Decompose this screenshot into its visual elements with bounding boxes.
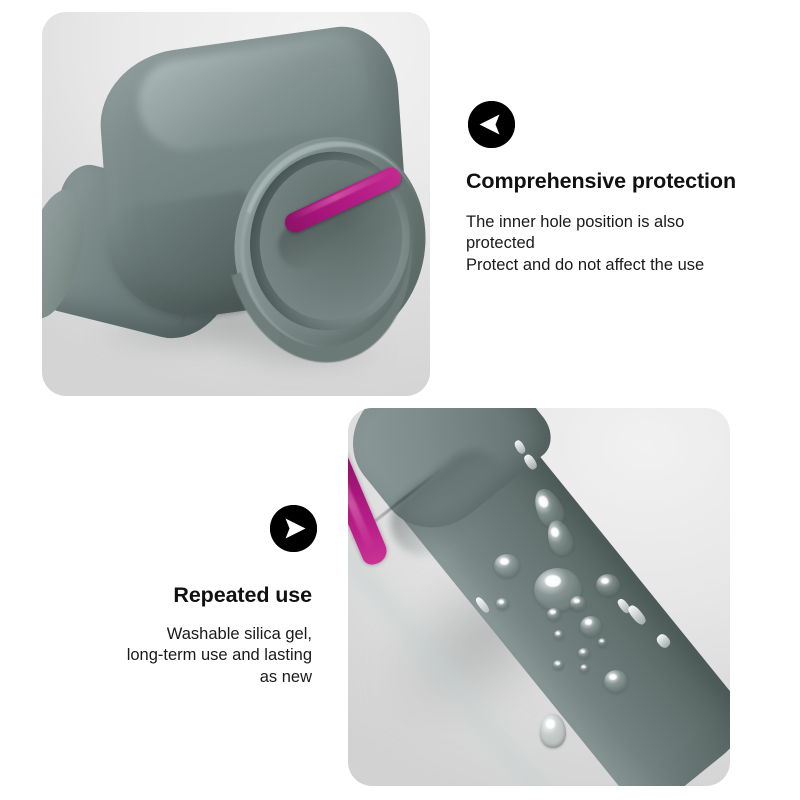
water-droplet xyxy=(547,608,561,621)
feature-description-line: Washable silica gel, xyxy=(62,624,312,645)
water-droplet xyxy=(580,664,589,673)
feature-title: Comprehensive protection xyxy=(466,170,786,194)
water-droplet xyxy=(570,596,586,611)
water-droplet xyxy=(578,648,590,659)
feature-block-repeated-use: Repeated use Washable silica gel, long-t… xyxy=(62,584,312,688)
water-droplet xyxy=(604,670,628,693)
feature-description-line: long-term use and lasting xyxy=(62,645,312,666)
feature-title: Repeated use xyxy=(62,584,312,608)
feature-description-line: as new xyxy=(62,667,312,688)
feature-description: Washable silica gel, long-term use and l… xyxy=(62,624,312,688)
product-photo-card-nozzle xyxy=(42,12,430,396)
water-droplet xyxy=(596,574,620,596)
water-droplet xyxy=(554,630,564,640)
water-droplet xyxy=(598,638,607,647)
feature-description-line: protected xyxy=(466,233,786,254)
product-feature-page: Comprehensive protection The inner hole … xyxy=(0,0,800,800)
water-droplet xyxy=(494,554,520,578)
water-droplet xyxy=(496,598,509,610)
feature-block-comprehensive-protection: Comprehensive protection The inner hole … xyxy=(466,170,786,276)
water-droplet xyxy=(580,616,602,637)
water-droplet xyxy=(553,660,564,670)
water-droplet xyxy=(540,714,566,748)
arrow-left-icon xyxy=(468,101,515,148)
feature-description-line: Protect and do not affect the use xyxy=(466,255,786,276)
arrow-right-icon xyxy=(270,505,317,552)
handle-scene xyxy=(348,408,730,786)
product-photo-card-handle xyxy=(348,408,730,786)
feature-description: The inner hole position is also protecte… xyxy=(466,212,786,276)
nozzle-scene xyxy=(42,12,430,396)
feature-description-line: The inner hole position is also xyxy=(466,212,786,233)
